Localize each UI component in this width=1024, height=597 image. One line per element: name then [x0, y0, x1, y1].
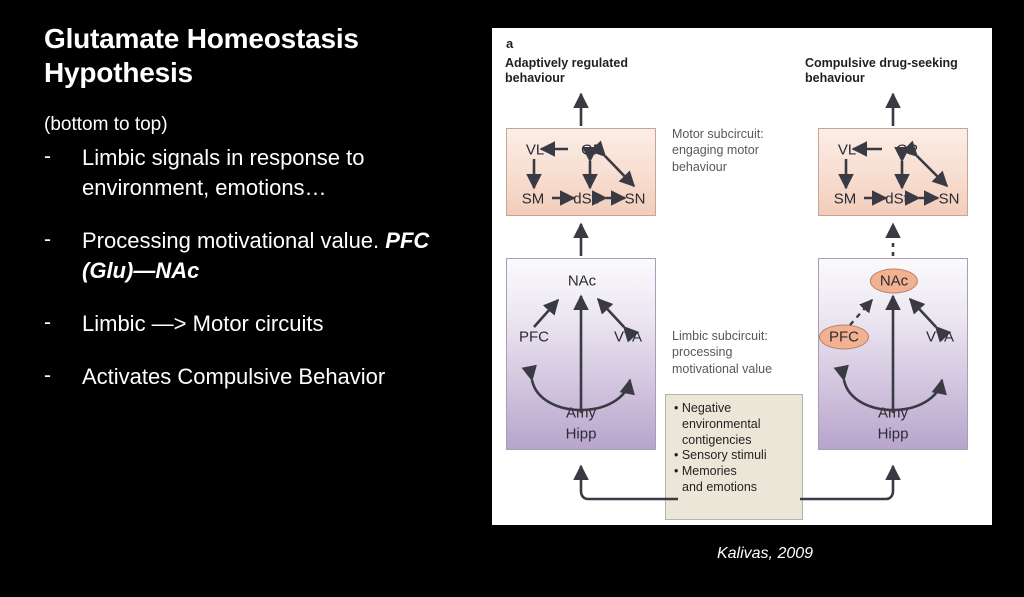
list-item: - Limbic —> Motor circuits: [44, 309, 474, 338]
bullet-dash: -: [44, 226, 82, 254]
reading-order-note: (bottom to top): [44, 114, 474, 137]
list-item: - Activates Compulsive Behavior: [44, 362, 474, 391]
arrow-left-input-hook: [581, 466, 678, 499]
bullet-text: Limbic —> Motor circuits: [82, 309, 323, 338]
slide-text-column: Glutamate Homeostasis Hypothesis (bottom…: [44, 22, 474, 392]
bullet-dash: -: [44, 309, 82, 337]
bullet-text-plain: Processing motivational value.: [82, 228, 385, 253]
figure-credit: Kalivas, 2009: [675, 545, 855, 563]
arrows-right-limbic-internal: [844, 296, 942, 413]
bullet-text: Limbic signals in response to environmen…: [82, 143, 474, 202]
bullet-text: Activates Compulsive Behavior: [82, 362, 385, 391]
arrows-left-limbic-internal: [532, 296, 630, 413]
figure-panel: a Adaptively regulated behaviour Compuls…: [492, 28, 992, 525]
bullet-dash: -: [44, 362, 82, 390]
bullet-dash: -: [44, 143, 82, 171]
list-item: - Processing motivational value. PFC (Gl…: [44, 226, 474, 285]
arrow-right-input-hook: [800, 466, 893, 499]
bullet-text: Processing motivational value. PFC (Glu)…: [82, 226, 474, 285]
arrows-right-motor-internal: [846, 149, 947, 198]
figure-arrow-overlay: [492, 28, 992, 525]
list-item: - Limbic signals in response to environm…: [44, 143, 474, 202]
page-title: Glutamate Homeostasis Hypothesis: [44, 22, 474, 90]
arrows-left-motor-internal: [534, 149, 634, 198]
slide-root: Glutamate Homeostasis Hypothesis (bottom…: [0, 0, 1024, 597]
bullet-list: - Limbic signals in response to environm…: [44, 143, 474, 392]
